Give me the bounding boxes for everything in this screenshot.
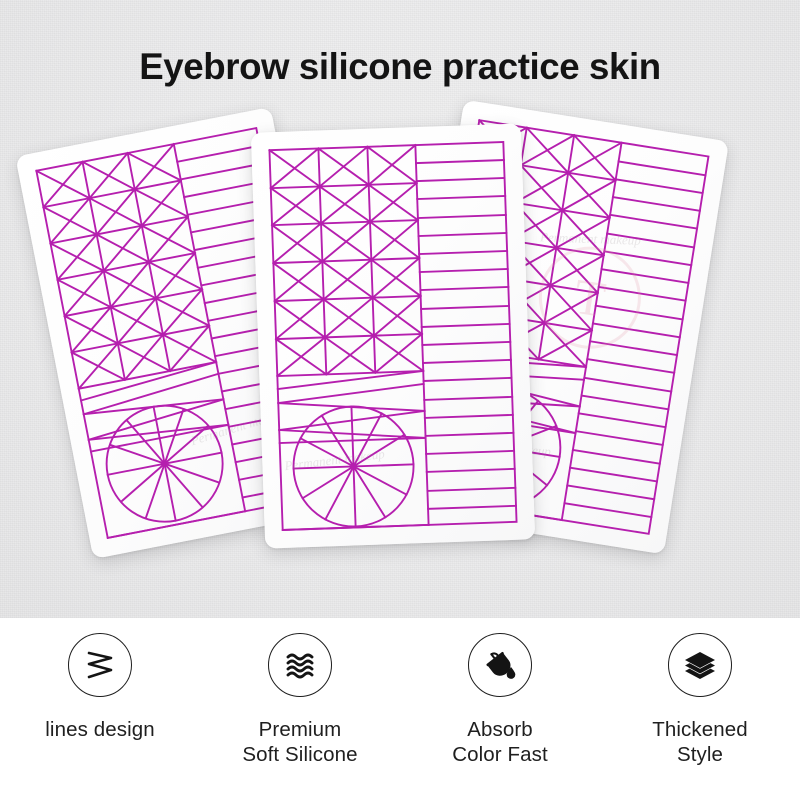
wavy-lines-icon [268,633,332,697]
feature-thickened-style: Thickened Style [600,618,800,767]
feature-label: lines design [45,717,154,742]
feature-label: Thickened Style [652,717,747,767]
practice-skin-sheet-middle[interactable]: Permanent makeup [251,123,535,548]
product-sheets-group: Permanent makeup [0,0,800,618]
feature-lines-design: lines design [0,618,200,742]
hero-section: Eyebrow silicone practice skin [0,0,800,618]
paint-bucket-icon [468,633,532,697]
feature-label: Premium Soft Silicone [242,717,357,767]
feature-premium-soft-silicone: Premium Soft Silicone [200,618,400,767]
feature-label: Absorb Color Fast [452,717,548,767]
zigzag-lines-icon [68,633,132,697]
sheet-pattern-middle [251,123,535,548]
product-image: Eyebrow silicone practice skin [0,0,800,800]
feature-absorb-color-fast: Absorb Color Fast [400,618,600,767]
stacked-layers-icon [668,633,732,697]
features-section: lines design Premium Soft Silicone [0,618,800,800]
